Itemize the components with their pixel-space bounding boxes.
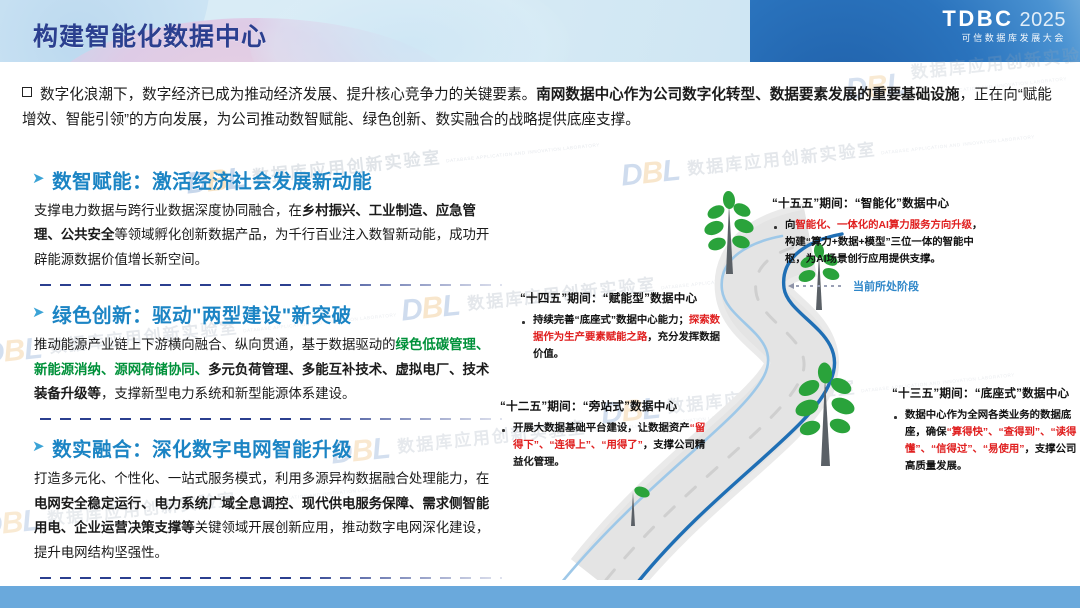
logo-subtitle-text: 可信数据库发展大会 bbox=[942, 34, 1066, 43]
section-body: 推动能源产业链上下游横向融合、纵向贯通，基于数据驱动的绿色低碳管理、新能源消纳、… bbox=[32, 333, 502, 406]
callout-list: 开展大数据基础平台建设，让数据资产“留得下”、“连得上”、“用得了”，支撑公司精… bbox=[500, 421, 715, 472]
callout-text-part1: 开展大数据基础平台建设，让数据资产 bbox=[513, 423, 690, 434]
section-body: 支撑电力数据与跨行业数据深度协同融合，在乡村振兴、工业制造、应急管理、公共安全等… bbox=[32, 199, 502, 272]
list-item: 数据中心作为全网各类业务的数据底座，确保“算得快”、“查得到”、“读得懂”、“信… bbox=[892, 408, 1080, 475]
callout-14th-five-year: “十四五”期间：“赋能型”数据中心 持续完善“底座式”数据中心能力；探索数据作为… bbox=[520, 290, 730, 364]
callout-text-highlight: 智能化、一体化的AI算力服务方向升级 bbox=[795, 220, 972, 231]
callout-15th-five-year: “十五五”期间：“智能化”数据中心 向智能化、一体化的AI算力服务方向升级，构建… bbox=[772, 195, 987, 269]
section-title: 绿色创新：驱动"两型建设"新突破 bbox=[52, 299, 352, 328]
current-stage-legend: 当前所处阶段 bbox=[788, 278, 919, 294]
intro-paragraph: 数字化浪潮下，数字经济已成为推动经济发展、提升核心竞争力的关键要素。南网数据中心… bbox=[22, 83, 1058, 133]
roadmap-graphic: “十四五”期间：“赋能型”数据中心 持续完善“底座式”数据中心能力；探索数据作为… bbox=[560, 150, 980, 580]
section-shuzhi-funeng: ➤ 数智赋能：激活经济社会发展新动能 支撑电力数据与跨行业数据深度协同融合，在乡… bbox=[32, 165, 502, 272]
callout-list: 数据中心作为全网各类业务的数据底座，确保“算得快”、“查得到”、“读得懂”、“信… bbox=[892, 408, 1080, 475]
section-divider bbox=[40, 577, 502, 579]
logo-year-text: 2025 bbox=[1020, 10, 1067, 30]
chevron-right-icon: ➤ bbox=[32, 305, 45, 320]
section-lvse-chuangxin: ➤ 绿色创新：驱动"两型建设"新突破 推动能源产业链上下游横向融合、纵向贯通，基… bbox=[32, 299, 502, 406]
dashed-arrow-icon bbox=[788, 283, 844, 289]
header-decor-blob-mid bbox=[250, 0, 570, 62]
list-item: 向智能化、一体化的AI算力服务方向升级，构建“算力+数据+模型”三位一体的智能中… bbox=[772, 218, 987, 269]
callout-list: 持续完善“底座式”数据中心能力；探索数据作为生产要素赋能之路，充分发挥数据价值。 bbox=[520, 313, 730, 364]
section-title: 数实融合：深化数字电网智能升级 bbox=[52, 433, 352, 462]
section-body-part1: 支撑电力数据与跨行业数据深度协同融合，在 bbox=[34, 203, 302, 218]
chevron-right-icon: ➤ bbox=[32, 439, 45, 454]
callout-13th-five-year: “十三五”期间：“底座式”数据中心 数据中心作为全网各类业务的数据底座，确保“算… bbox=[892, 385, 1080, 475]
callout-title: “十五五”期间：“智能化”数据中心 bbox=[772, 195, 987, 211]
section-body-part1: 打造多元化、个性化、一站式服务模式，利用多源异构数据融合处理能力，在 bbox=[34, 471, 489, 486]
slide-root: TDBC 2025 可信数据库发展大会 构建智能化数据中心 DBL 数据库应用创… bbox=[0, 0, 1080, 608]
logo-tdbc-text: TDBC bbox=[942, 8, 1013, 30]
section-body: 打造多元化、个性化、一站式服务模式，利用多源异构数据融合处理能力，在电网安全稳定… bbox=[32, 467, 502, 565]
slide-footer-bar bbox=[0, 586, 1080, 608]
callout-12th-five-year: “十二五”期间：“旁站式”数据中心 开展大数据基础平台建设，让数据资产“留得下”… bbox=[500, 398, 715, 472]
list-item: 开展大数据基础平台建设，让数据资产“留得下”、“连得上”、“用得了”，支撑公司精… bbox=[500, 421, 715, 472]
callout-title: “十四五”期间：“赋能型”数据中心 bbox=[520, 290, 730, 306]
intro-text-bold: 南网数据中心作为公司数字化转型、数据要素发展的重要基础设施 bbox=[536, 87, 959, 103]
callout-title: “十三五”期间：“底座式”数据中心 bbox=[892, 385, 1080, 401]
content-sections: ➤ 数智赋能：激活经济社会发展新动能 支撑电力数据与跨行业数据深度协同融合，在乡… bbox=[32, 165, 502, 592]
bullet-square-icon bbox=[22, 87, 32, 97]
conference-logo: TDBC 2025 可信数据库发展大会 bbox=[942, 8, 1066, 43]
section-shushi-ronghe: ➤ 数实融合：深化数字电网智能升级 打造多元化、个性化、一站式服务模式，利用多源… bbox=[32, 433, 502, 565]
current-stage-label: 当前所处阶段 bbox=[853, 278, 919, 294]
callout-text-part1: 持续完善“底座式”数据中心能力； bbox=[533, 315, 689, 326]
list-item: 持续完善“底座式”数据中心能力；探索数据作为生产要素赋能之路，充分发挥数据价值。 bbox=[520, 313, 730, 364]
section-divider bbox=[40, 418, 502, 420]
section-divider bbox=[40, 284, 502, 286]
section-heading: ➤ 数智赋能：激活经济社会发展新动能 bbox=[32, 165, 502, 194]
chevron-right-icon: ➤ bbox=[32, 171, 45, 186]
section-heading: ➤ 绿色创新：驱动"两型建设"新突破 bbox=[32, 299, 502, 328]
intro-text-part1: 数字化浪潮下，数字经济已成为推动经济发展、提升核心竞争力的关键要素。 bbox=[40, 87, 536, 103]
callout-title: “十二五”期间：“旁站式”数据中心 bbox=[500, 398, 715, 414]
page-title: 构建智能化数据中心 bbox=[33, 17, 267, 53]
callout-list: 向智能化、一体化的AI算力服务方向升级，构建“算力+数据+模型”三位一体的智能中… bbox=[772, 218, 987, 269]
section-body-part1: 推动能源产业链上下游横向融合、纵向贯通，基于数据驱动的 bbox=[34, 337, 396, 352]
section-body-part2: ，支撑新型电力系统和新型能源体系建设。 bbox=[101, 386, 355, 401]
section-heading: ➤ 数实融合：深化数字电网智能升级 bbox=[32, 433, 502, 462]
section-title: 数智赋能：激活经济社会发展新动能 bbox=[52, 165, 372, 194]
callout-text-part1: 向 bbox=[785, 220, 795, 231]
